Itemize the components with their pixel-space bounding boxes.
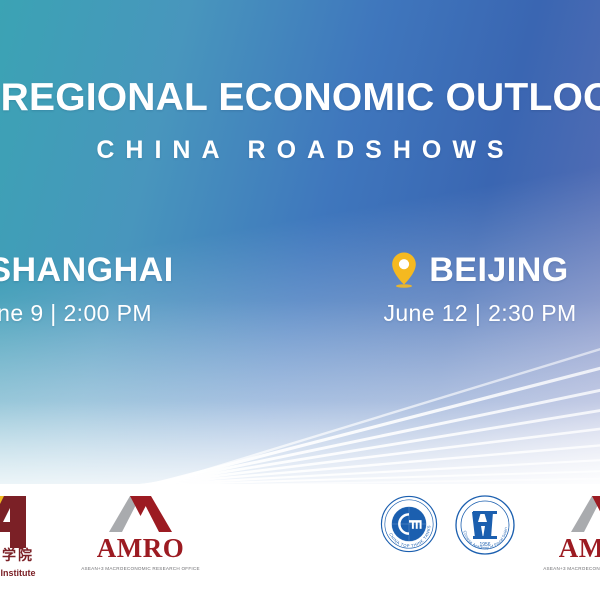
city-datetime: June 9 | 2:00 PM xyxy=(0,300,212,327)
logo-amro-left: AMRO ASEAN+3 MACROECONOMIC RESEARCH OFFI… xyxy=(78,494,203,576)
cafs-mark-icon xyxy=(0,492,56,552)
city-name: SHANGHAI xyxy=(0,253,174,287)
bridge-cables-graphic xyxy=(0,0,600,484)
cttt-seal-icon: CHINA TOP THINK TANKS xyxy=(380,494,438,554)
cafs-seal-icon: Chinese Academy of Fiscal Sciences 1956 xyxy=(455,494,515,556)
amro-mark-icon xyxy=(540,494,600,534)
event-promo-banner: ASEAN+3 REGIONAL ECONOMIC OUTLOOK (AREO)… xyxy=(0,0,600,600)
logo-amro-wordmark: AMRO xyxy=(78,535,203,562)
logo-amro-tagline: ASEAN+3 MACROECONOMIC RESEARCH OFFICE xyxy=(540,567,600,572)
logo-amro-tagline: ASEAN+3 MACROECONOMIC RESEARCH OFFICE xyxy=(78,567,203,572)
logo-cafs-accounting-institute: 计学院 ing Institute xyxy=(0,492,56,584)
page-subtitle: CHINA ROADSHOWS xyxy=(85,138,514,163)
logo-amro-right: AMRO ASEAN+3 MACROECONOMIC RESEARCH OFFI… xyxy=(540,494,600,576)
city-entry-shanghai: SHANGHAI June 9 | 2:00 PM xyxy=(0,248,212,327)
logo-cafs-name-en: ing Institute xyxy=(0,569,56,578)
city-name: BEIJING xyxy=(429,253,569,287)
cafs-founding-year: 1956 xyxy=(479,542,490,548)
logo-cafs-name-cn: 计学院 xyxy=(0,548,56,562)
amro-mark-icon xyxy=(78,494,203,534)
city-datetime: June 12 | 2:30 PM xyxy=(330,300,600,327)
logo-chinese-academy-of-fiscal-sciences: Chinese Academy of Fiscal Sciences 1956 xyxy=(455,494,515,556)
city-schedule-list: SHANGHAI June 9 | 2:00 PM BEIJING June 1… xyxy=(0,248,600,348)
logo-china-top-think-tanks: CHINA TOP THINK TANKS xyxy=(380,494,438,554)
partner-logo-bar: 计学院 ing Institute AMRO ASEAN+3 MACROECON… xyxy=(0,484,600,600)
logo-amro-wordmark: AMRO xyxy=(540,535,600,562)
location-pin-icon xyxy=(391,252,417,288)
page-title: ASEAN+3 REGIONAL ECONOMIC OUTLOOK (AREO) xyxy=(0,78,600,117)
city-heading: SHANGHAI xyxy=(0,248,212,292)
city-entry-beijing: BEIJING June 12 | 2:30 PM xyxy=(330,248,600,327)
city-heading: BEIJING xyxy=(330,248,600,292)
